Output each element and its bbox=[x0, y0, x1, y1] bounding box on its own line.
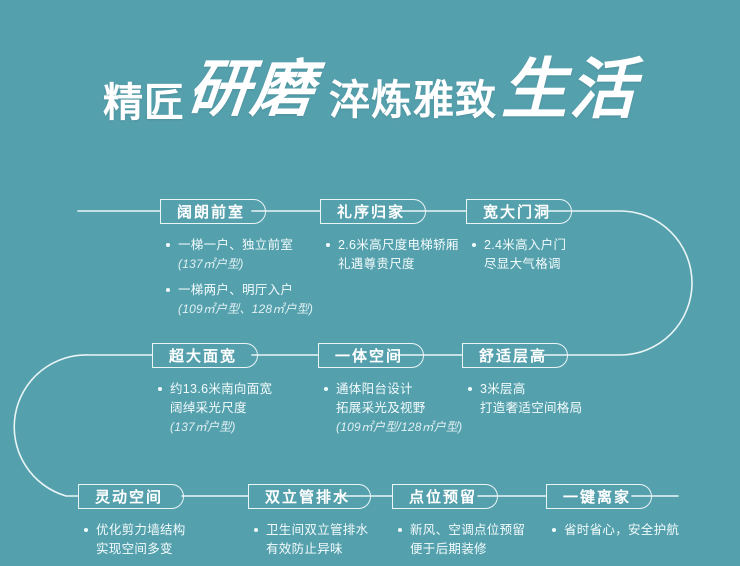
bullet-group: 省时省心，安全护航 bbox=[550, 521, 679, 540]
feature-bullets: 卫生间双立管排水 有效防止异味 bbox=[248, 521, 371, 559]
feature-kuolang-qianshi[interactable]: 阔朗前室 一梯一户、独立前室 (137㎡户型) 一梯两户、明厅入户 (109㎡户… bbox=[160, 199, 313, 326]
feature-yijian-lijia[interactable]: 一键离家 省时省心，安全护航 bbox=[546, 484, 679, 547]
bullet-cont: 打造奢适空间格局 bbox=[466, 399, 582, 418]
headline-segment-2: 研磨 bbox=[184, 38, 319, 128]
bullet-lead: 一梯两户、明厅入户 bbox=[164, 281, 313, 300]
bullet-sub: (109㎡户型、128㎡户型) bbox=[164, 300, 313, 319]
bullet-cont: 拓展采光及视野 bbox=[322, 399, 462, 418]
bullet-group: 优化剪力墙结构 实现空间多变 bbox=[82, 521, 186, 559]
feature-title-chip[interactable]: 阔朗前室 bbox=[160, 199, 266, 224]
bullet-cont: 有效防止异味 bbox=[252, 540, 371, 559]
bullet-group: 一梯两户、明厅入户 (109㎡户型、128㎡户型) bbox=[164, 281, 313, 319]
feature-lingdong-kongjian[interactable]: 灵动空间 优化剪力墙结构 实现空间多变 bbox=[78, 484, 186, 566]
bullet-cont: 尽显大气格调 bbox=[470, 255, 572, 274]
bullet-group: 2.6米高尺度电梯轿厢 礼遇尊贵尺度 bbox=[324, 236, 459, 274]
bullet-lead: 新风、空调点位预留 bbox=[396, 521, 525, 540]
bullet-group: 一梯一户、独立前室 (137㎡户型) bbox=[164, 236, 313, 274]
feature-title-chip[interactable]: 舒适层高 bbox=[462, 343, 568, 368]
feature-bullets: 约13.6米南向面宽 阔绰采光尺度 (137㎡户型) bbox=[152, 380, 272, 437]
bullet-lead: 优化剪力墙结构 bbox=[82, 521, 186, 540]
feature-lixu-guijia[interactable]: 礼序归家 2.6米高尺度电梯轿厢 礼遇尊贵尺度 bbox=[320, 199, 459, 281]
feature-title-chip[interactable]: 超大面宽 bbox=[152, 343, 258, 368]
headline-segment-3: 淬炼雅致 bbox=[329, 66, 497, 126]
bullet-lead: 一梯一户、独立前室 bbox=[164, 236, 313, 255]
bullet-lead: 3米层高 bbox=[466, 380, 582, 399]
feature-kuanda-mendong[interactable]: 宽大门洞 2.4米高入户门 尽显大气格调 bbox=[466, 199, 572, 281]
feature-title-chip[interactable]: 双立管排水 bbox=[248, 484, 371, 509]
bullet-lead: 2.4米高入户门 bbox=[470, 236, 572, 255]
feature-bullets: 优化剪力墙结构 实现空间多变 bbox=[78, 521, 186, 559]
bullet-group: 约13.6米南向面宽 阔绰采光尺度 (137㎡户型) bbox=[156, 380, 272, 437]
bullet-cont: 阔绰采光尺度 bbox=[156, 399, 272, 418]
infographic-canvas: 精匠研磨淬炼雅致生活 阔朗前室 一梯一户、独立前室 (137㎡户型) 一 bbox=[0, 0, 740, 541]
feature-bullets: 通体阳台设计 拓展采光及视野 (109㎡户型/128㎡户型) bbox=[318, 380, 462, 437]
feature-title-chip[interactable]: 宽大门洞 bbox=[466, 199, 572, 224]
headline-segment-1: 精匠 bbox=[103, 70, 185, 128]
feature-bullets: 3米层高 打造奢适空间格局 bbox=[462, 380, 582, 418]
bullet-cont: 实现空间多变 bbox=[82, 540, 186, 559]
bullet-lead: 2.6米高尺度电梯轿厢 bbox=[324, 236, 459, 255]
feature-title-chip[interactable]: 灵动空间 bbox=[78, 484, 184, 509]
bullet-group: 通体阳台设计 拓展采光及视野 (109㎡户型/128㎡户型) bbox=[322, 380, 462, 437]
bullet-lead: 约13.6米南向面宽 bbox=[156, 380, 272, 399]
feature-bullets: 2.6米高尺度电梯轿厢 礼遇尊贵尺度 bbox=[320, 236, 459, 274]
page-title: 精匠研磨淬炼雅致生活 bbox=[0, 34, 740, 154]
bullet-lead: 卫生间双立管排水 bbox=[252, 521, 371, 540]
bullet-cont: 礼遇尊贵尺度 bbox=[324, 255, 459, 274]
feature-yiti-kongjian[interactable]: 一体空间 通体阳台设计 拓展采光及视野 (109㎡户型/128㎡户型) bbox=[318, 343, 462, 444]
feature-bullets: 新风、空调点位预留 便于后期装修 bbox=[392, 521, 525, 559]
feature-bullets: 2.4米高入户门 尽显大气格调 bbox=[466, 236, 572, 274]
feature-title-chip[interactable]: 一体空间 bbox=[318, 343, 424, 368]
feature-title-chip[interactable]: 点位预留 bbox=[392, 484, 498, 509]
connector-left-uturn bbox=[14, 355, 152, 496]
bullet-group: 卫生间双立管排水 有效防止异味 bbox=[252, 521, 371, 559]
feature-bullets: 一梯一户、独立前室 (137㎡户型) 一梯两户、明厅入户 (109㎡户型、128… bbox=[160, 236, 313, 319]
feature-bullets: 省时省心，安全护航 bbox=[546, 521, 679, 540]
feature-title-chip[interactable]: 礼序归家 bbox=[320, 199, 426, 224]
bullet-sub: (137㎡户型) bbox=[156, 418, 272, 437]
bullet-lead: 通体阳台设计 bbox=[322, 380, 462, 399]
bullet-group: 3米层高 打造奢适空间格局 bbox=[466, 380, 582, 418]
headline-segment-4: 生活 bbox=[501, 36, 637, 132]
bullet-sub: (137㎡户型) bbox=[164, 255, 313, 274]
bullet-group: 2.4米高入户门 尽显大气格调 bbox=[470, 236, 572, 274]
feature-shuanglieguan-paishui[interactable]: 双立管排水 卫生间双立管排水 有效防止异味 bbox=[248, 484, 371, 566]
feature-dianwei-yuliu[interactable]: 点位预留 新风、空调点位预留 便于后期装修 bbox=[392, 484, 525, 566]
bullet-sub: (109㎡户型/128㎡户型) bbox=[322, 418, 462, 437]
feature-shushi-cenggao[interactable]: 舒适层高 3米层高 打造奢适空间格局 bbox=[462, 343, 582, 425]
bullet-lead: 省时省心，安全护航 bbox=[550, 521, 679, 540]
bullet-group: 新风、空调点位预留 便于后期装修 bbox=[396, 521, 525, 559]
bullet-cont: 便于后期装修 bbox=[396, 540, 525, 559]
feature-chaoda-miankuan[interactable]: 超大面宽 约13.6米南向面宽 阔绰采光尺度 (137㎡户型) bbox=[152, 343, 272, 444]
feature-title-chip[interactable]: 一键离家 bbox=[546, 484, 652, 509]
